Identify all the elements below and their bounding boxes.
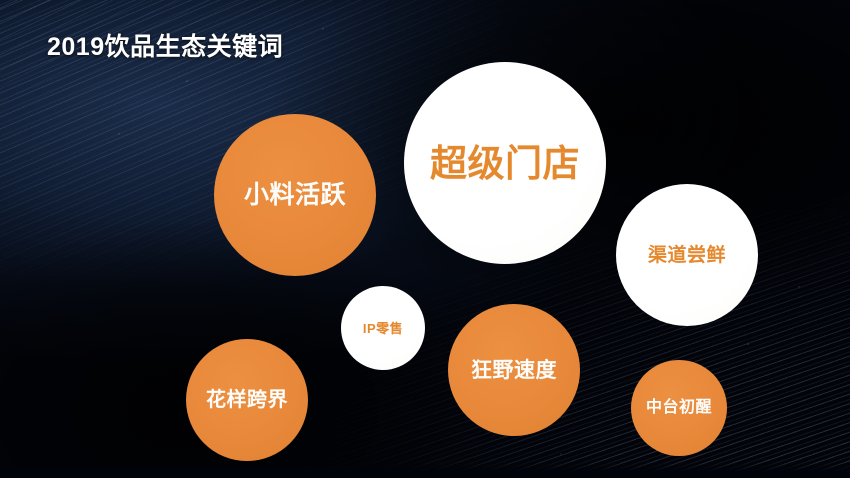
keyword-bubble-chao-ji-men-dian[interactable]: 超级门店 (404, 62, 606, 264)
keyword-bubble-qu-dao-chang-xian[interactable]: 渠道尝鲜 (616, 184, 758, 326)
slide-canvas: 2019饮品生态关键词 小料活跃超级门店渠道尝鲜IP零售狂野速度花样跨界中台初醒 (0, 0, 850, 478)
keyword-bubble-label: 小料活跃 (244, 183, 346, 208)
keyword-bubble-ip-ling-shou[interactable]: IP零售 (341, 286, 425, 370)
keyword-bubble-label: IP零售 (363, 322, 403, 335)
keyword-bubble-kuang-ye-su-du[interactable]: 狂野速度 (448, 304, 580, 436)
keyword-bubble-label: 中台初醒 (646, 400, 712, 416)
keyword-bubble-xiao-liao-huo-yue[interactable]: 小料活跃 (214, 114, 376, 276)
keyword-bubble-label: 花样跨界 (206, 390, 288, 410)
keyword-bubble-label: 狂野速度 (471, 360, 557, 381)
keyword-bubble-label: 超级门店 (430, 145, 580, 182)
keyword-bubble-label: 渠道尝鲜 (648, 246, 726, 265)
page-title: 2019饮品生态关键词 (47, 27, 283, 63)
background-bottom-edge (0, 462, 850, 478)
keyword-bubble-hua-yang-kua-jie[interactable]: 花样跨界 (186, 339, 308, 461)
keyword-bubble-zhong-tai-chu-xing[interactable]: 中台初醒 (631, 360, 727, 456)
